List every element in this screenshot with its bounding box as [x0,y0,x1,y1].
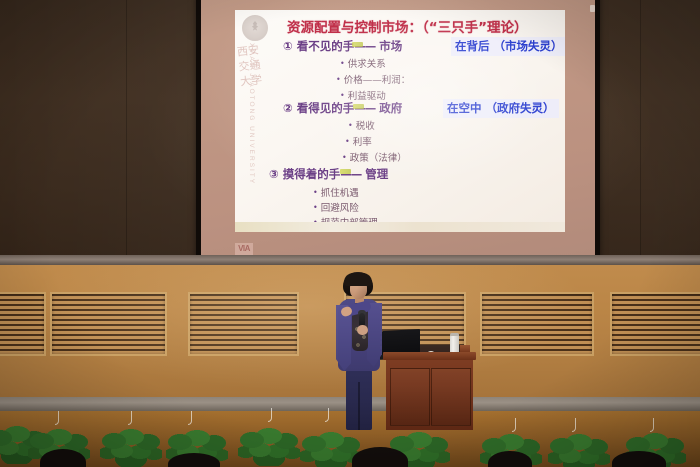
bullet-text: 政策（法律） [350,153,407,164]
slide-footer-band [235,222,565,232]
section-3-title: 摸得着的手 [283,167,341,181]
chair-rail-molding [0,255,700,265]
plant-hanger-hook [325,408,329,422]
plant-hanger-hook [650,418,654,432]
speaker-leg-seam [358,382,360,430]
slide-section-1-heading: ① 看不见的手—— 市场 [283,38,402,54]
plant-hanger-hook [572,418,576,432]
section-1-bullet-1: •供求关系 [340,56,386,70]
section-2-number: ② [283,101,293,115]
bullet-text: 价格——利润： [344,75,411,86]
speaker-cardigan-right-panel [367,303,382,367]
plant-hanger-hook [268,408,272,422]
speaker-mic-hand [357,325,368,335]
section-3-bullet-3: •规范内部管理 [313,215,378,222]
bullet-text: 抓住机遇 [321,188,359,199]
potted-plant [238,426,300,466]
plant-hanger-hook [512,418,516,432]
screen-top-marker [590,5,595,12]
section-1-highlight: 在背后 （市场失灵） [451,37,565,56]
section-3-target: 管理 [365,167,388,181]
speaker-hair-fringe [344,273,372,286]
plant-hanger-hook [188,411,192,425]
highlighter-mark [352,42,363,47]
bullet-text: 回避风险 [321,203,359,214]
bullet-dot-icon: • [340,59,345,68]
plant-hanger-hook [55,411,59,425]
potted-plant [100,427,162,467]
section-1-title: 看不见的手 [297,39,355,53]
section-2-bullet-1: •税收 [348,118,375,132]
section-1-bullet-2: •价格——利润： [336,72,410,86]
bullet-text: 利率 [353,137,372,148]
via-watermark-logo: VIA [235,243,253,255]
bullet-dot-icon: • [340,91,345,100]
section-1-target: 市场 [379,39,402,53]
lecture-hall-photo: VIA 西安交通大学 XI'AN JIAOTONG UNIVERSITY 资源配… [0,0,700,467]
university-watermark: 西安交通大学 XI'AN JIAOTONG UNIVERSITY [238,13,272,218]
section-2-bullet-2: •利率 [345,134,372,148]
slide-section-3-heading: ③ 摸得着的手—— 管理 [269,166,388,182]
section-2-bullet-3: •政策（法律） [342,150,407,164]
bullet-text: 供求关系 [348,59,386,70]
bullet-dot-icon: • [348,121,353,130]
highlighter-mark [353,104,364,109]
section-3-bullet-2: •回避风险 [313,200,359,214]
slide-section-2-heading: ② 看得见的手—— 政府 [283,100,402,116]
podium-front-panel [431,368,471,426]
section-3-bullet-1: •抓住机遇 [313,185,359,199]
audience-head-silhouette [352,447,408,467]
section-2-target: 政府 [379,101,402,115]
bullet-dot-icon: • [345,137,350,146]
university-name-en: XI'AN JIAOTONG UNIVERSITY [248,43,255,185]
bullet-dot-icon: • [313,203,318,212]
slide-title: 资源配置与控制市场：（“三只手”理论） [287,16,528,36]
bullet-dot-icon: • [336,75,341,84]
section-2-highlight: 在空中 （政府失灵） [443,99,559,118]
presentation-slide: 西安交通大学 XI'AN JIAOTONG UNIVERSITY 资源配置与控制… [235,10,565,222]
highlighter-mark [340,169,351,174]
potted-plant [548,432,610,467]
university-seal-icon [242,15,268,41]
podium-top-surface [383,352,476,360]
section-3-number: ③ [269,167,279,181]
university-name-cn: 西安交通大学 [236,42,273,117]
section-1-number: ① [283,39,293,53]
bullet-dot-icon: • [313,188,318,197]
plant-hanger-hook [128,411,132,425]
bullet-dot-icon: • [342,153,347,162]
thermos-cap [450,333,459,336]
podium-front-panel [390,368,430,426]
bullet-text: 税收 [356,121,375,132]
section-2-title: 看得见的手 [297,101,355,115]
